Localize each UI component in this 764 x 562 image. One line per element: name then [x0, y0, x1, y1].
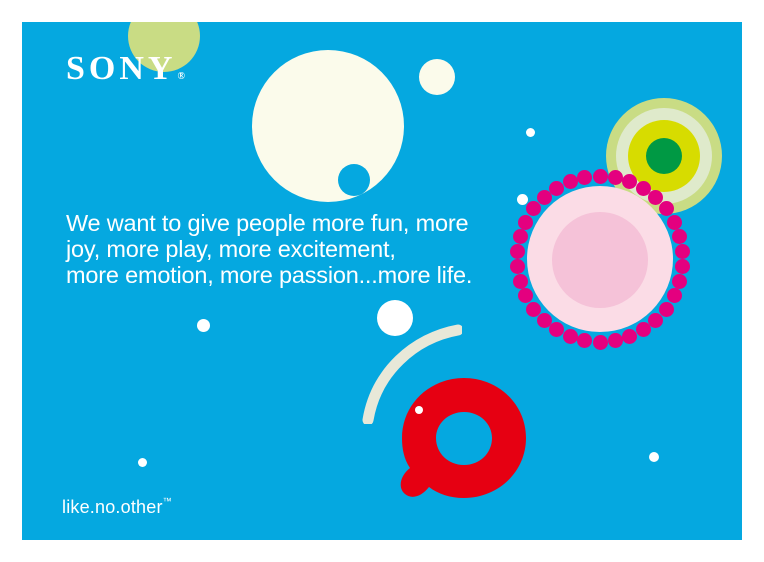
dot-lower-right [649, 452, 659, 462]
magenta-dot [648, 313, 663, 328]
magenta-dot [563, 174, 578, 189]
magenta-dot [659, 201, 674, 216]
magenta-dot [672, 274, 687, 289]
magenta-dot [526, 302, 541, 317]
cream-circle-large [252, 50, 404, 202]
sony-logo: SONY® [66, 52, 184, 86]
registered-trademark-mark: ® [177, 71, 184, 82]
magenta-dot [563, 329, 578, 344]
magenta-dot [608, 170, 623, 185]
headline-copy: We want to give people more fun, more jo… [66, 210, 626, 288]
magenta-dot [593, 169, 608, 184]
magenta-dot [622, 329, 637, 344]
blue-circle-notch [338, 164, 370, 196]
dot-left-mid [197, 319, 210, 332]
red-spiral-blob-icon [398, 374, 530, 506]
poster-blue-panel: SONY® We want to give people more fun, m… [22, 22, 742, 540]
magenta-dot [549, 181, 564, 196]
tagline-text: like.no.other [62, 497, 163, 517]
dot-upper-right-b [517, 194, 528, 205]
tagline: like.no.other™ [62, 498, 172, 516]
dot-upper-right-a [526, 128, 535, 137]
sony-wordmark-text: SONY [66, 50, 176, 87]
magenta-dot [672, 229, 687, 244]
magenta-dot [675, 244, 690, 259]
cream-circle-small [419, 59, 455, 95]
dot-lower-left [138, 458, 147, 467]
magenta-dot [659, 302, 674, 317]
sony-brand-poster: SONY® We want to give people more fun, m… [0, 0, 764, 562]
magenta-dot [608, 333, 623, 348]
white-circle-near-arc [377, 300, 413, 336]
magenta-dot [537, 313, 552, 328]
magenta-dot [675, 259, 690, 274]
magenta-dot [577, 333, 592, 348]
magenta-dot [577, 170, 592, 185]
trademark-mark: ™ [163, 496, 172, 506]
dot-arc-small [415, 406, 423, 414]
magenta-dot [549, 322, 564, 337]
magenta-dot [636, 322, 651, 337]
magenta-dot [667, 215, 682, 230]
magenta-dot [667, 288, 682, 303]
magenta-dot [593, 335, 608, 350]
